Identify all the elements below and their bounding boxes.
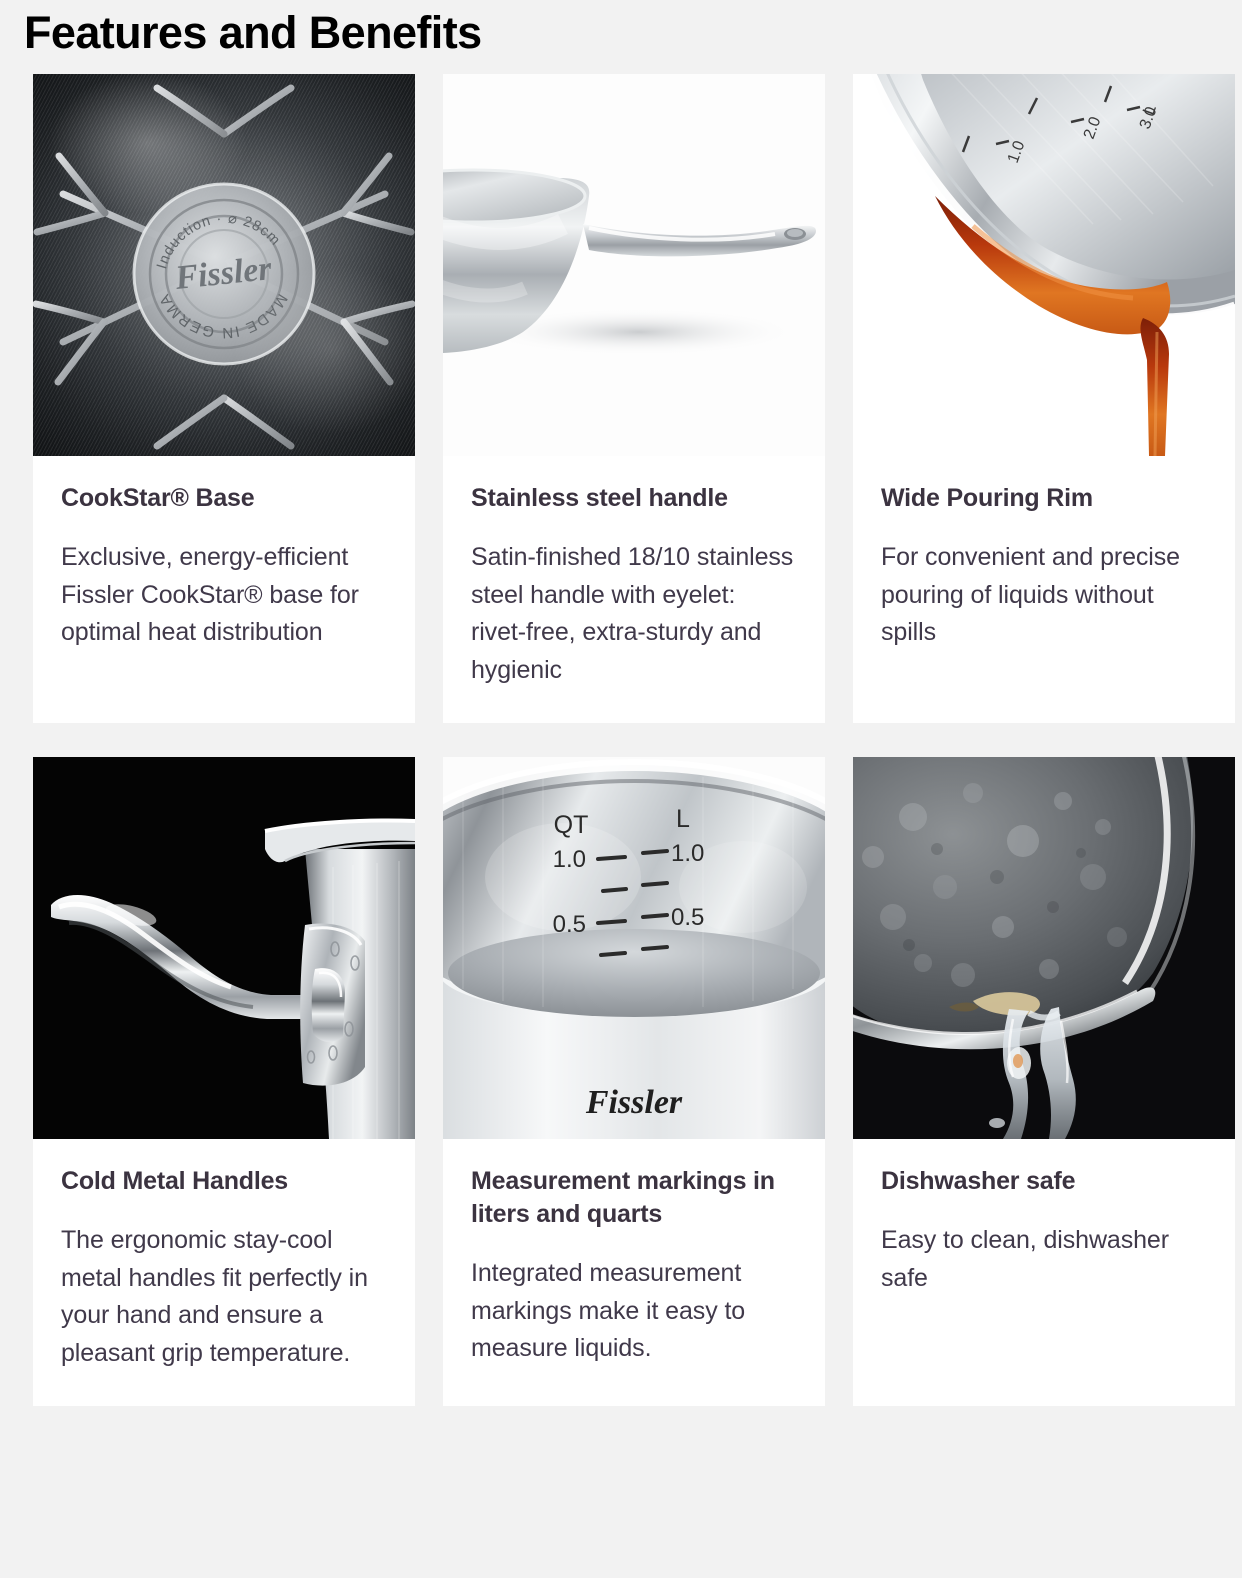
cold-metal-handle-photo — [33, 757, 415, 1139]
card-title: Stainless steel handle — [471, 482, 797, 515]
feature-card-dishwasher-safe[interactable]: Dishwasher safe Easy to clean, dishwashe… — [853, 757, 1235, 1406]
feature-card-stainless-steel-handle[interactable]: Stainless steel handle Satin-finished 18… — [443, 74, 825, 723]
card-description: For convenient and precise pouring of li… — [881, 539, 1207, 652]
frying-pan-illustration — [443, 74, 825, 456]
page-title: Features and Benefits — [24, 6, 482, 60]
card-body: CookStar® Base Exclusive, energy-efficie… — [33, 456, 415, 686]
card-description: The ergonomic stay-cool metal handles fi… — [61, 1222, 387, 1372]
card-description: Exclusive, energy-efficient Fissler Cook… — [61, 539, 387, 652]
feature-card-measurement-markings[interactable]: QT L 1.0 1.0 0.5 0.5 — [443, 757, 825, 1406]
card-body: Wide Pouring Rim For convenient and prec… — [853, 456, 1235, 686]
svg-text:0.5: 0.5 — [553, 911, 586, 938]
measurement-markings-photo: QT L 1.0 1.0 0.5 0.5 — [443, 757, 825, 1139]
pouring-rim-photo: L 3.0 2.0 1.0 — [853, 74, 1235, 456]
svg-text:0.5: 0.5 — [671, 904, 704, 931]
svg-text:QT: QT — [554, 811, 589, 839]
card-description: Satin-finished 18/10 stainless steel han… — [471, 539, 797, 689]
card-body: Stainless steel handle Satin-finished 18… — [443, 456, 825, 723]
feature-card-wide-pouring-rim[interactable]: L 3.0 2.0 1.0 — [853, 74, 1235, 723]
card-body: Cold Metal Handles The ergonomic stay-co… — [33, 1139, 415, 1406]
svg-text:L: L — [676, 805, 690, 833]
svg-text:1.0: 1.0 — [553, 846, 586, 873]
metal-sheen-overlay — [33, 74, 415, 456]
feature-card-cookstar-base[interactable]: Induction · ⌀ 28cm MADE IN GERMANY Fissl… — [33, 74, 415, 723]
card-description: Integrated measurement markings make it … — [471, 1255, 797, 1368]
cookstar-base-photo: Induction · ⌀ 28cm MADE IN GERMANY Fissl… — [33, 74, 415, 456]
features-grid: Induction · ⌀ 28cm MADE IN GERMANY Fissl… — [33, 74, 1223, 1406]
pouring-rim-illustration: L 3.0 2.0 1.0 — [853, 74, 1235, 456]
stainless-pan-photo — [443, 74, 825, 456]
measurement-scale-illustration: QT L 1.0 1.0 0.5 0.5 — [443, 757, 825, 1139]
cold-handle-illustration — [33, 757, 415, 1139]
features-and-benefits-page: Features and Benefits — [0, 0, 1242, 1578]
svg-text:1.0: 1.0 — [671, 840, 704, 867]
card-description: Easy to clean, dishwasher safe — [881, 1222, 1207, 1297]
card-title: CookStar® Base — [61, 482, 387, 515]
svg-text:Fissler: Fissler — [585, 1084, 683, 1121]
card-title: Wide Pouring Rim — [881, 482, 1207, 515]
card-body: Measurement markings in liters and quart… — [443, 1139, 825, 1402]
card-body: Dishwasher safe Easy to clean, dishwashe… — [853, 1139, 1235, 1331]
card-title: Measurement markings in liters and quart… — [471, 1165, 797, 1231]
card-title: Dishwasher safe — [881, 1165, 1207, 1198]
feature-card-cold-metal-handles[interactable]: Cold Metal Handles The ergonomic stay-co… — [33, 757, 415, 1406]
dishwasher-rinse-illustration — [853, 757, 1235, 1139]
card-title: Cold Metal Handles — [61, 1165, 387, 1198]
dishwasher-safe-photo — [853, 757, 1235, 1139]
